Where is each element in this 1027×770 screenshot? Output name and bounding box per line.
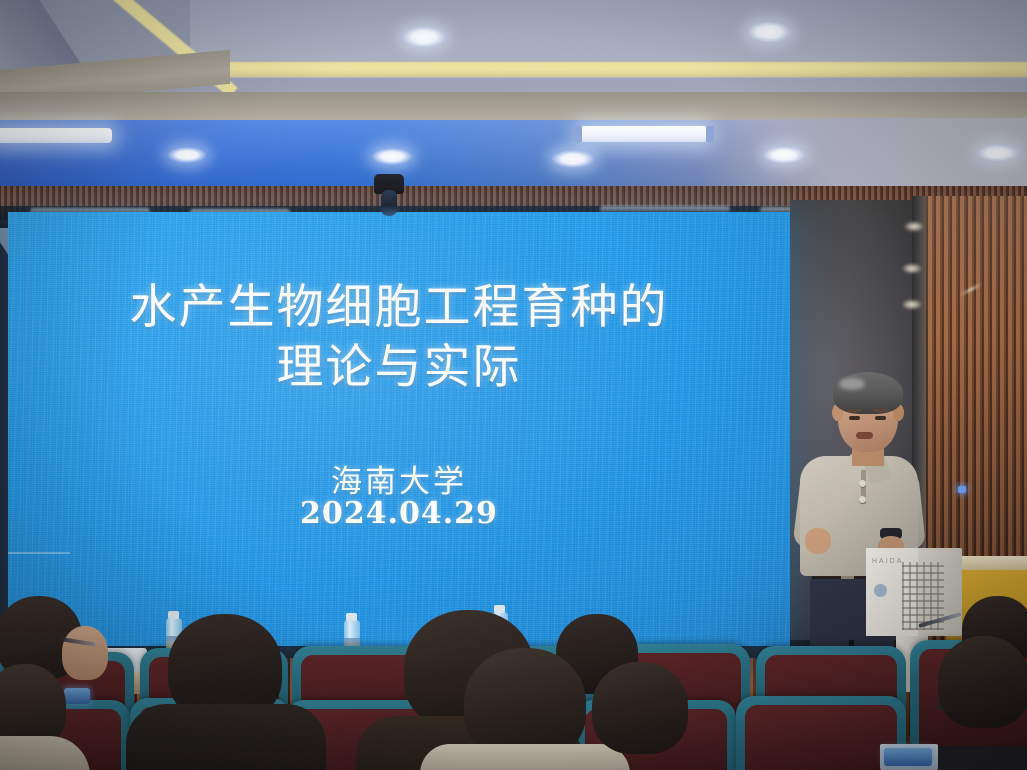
speaker-mouth (856, 432, 873, 439)
slide-organization: 海南大学 (8, 456, 790, 501)
speaker-eye-right (875, 416, 886, 420)
wall-downlight-glow (905, 222, 923, 231)
bottle-cap-icon (494, 605, 505, 613)
bottle-cap-icon (168, 611, 179, 619)
downlight-icon (552, 150, 594, 168)
audience-shoulders (420, 744, 630, 770)
downlight-icon (977, 144, 1019, 162)
wall-downlight-glow (903, 264, 921, 273)
podium-label: HAIDA (872, 558, 916, 566)
slide-date: 2024.04.29 (8, 496, 790, 531)
podium-logo-icon (874, 584, 887, 597)
shirt-button-icon (859, 480, 866, 487)
speaker-eyebrow-right (873, 409, 887, 412)
slide-title-line2: 理论与实际 (8, 338, 790, 398)
tube-light-icon (0, 128, 112, 143)
speaker-hair (833, 372, 903, 414)
audience-face (62, 626, 108, 680)
seat-cushion (745, 705, 897, 770)
wall-downlight-glow (903, 300, 921, 309)
slide-title: 水产生物细胞工程育种的 理论与实际 (8, 278, 790, 398)
downlight-icon (747, 21, 791, 43)
lecture-hall-photo: 水产生物细胞工程育种的 理论与实际 海南大学 2024.04.29 HAIDA (0, 0, 1027, 770)
audience-head (592, 662, 688, 754)
presentation-screen[interactable]: 水产生物细胞工程育种的 理论与实际 海南大学 2024.04.29 (8, 212, 790, 646)
cove-light-strip-horizontal (210, 62, 1027, 77)
phone-screen[interactable] (884, 748, 932, 766)
speaker-left-hand (805, 528, 831, 554)
screen-edge-artifact (8, 552, 70, 554)
tube-light-endcap (706, 126, 714, 142)
shirt-button-icon (859, 496, 866, 503)
camera-lens-icon (381, 190, 397, 216)
bottle-cap-icon (346, 613, 357, 621)
slide-title-line1: 水产生物细胞工程育种的 (130, 280, 669, 335)
downlight-icon (168, 147, 206, 163)
downlight-icon (372, 148, 412, 165)
audience-shoulders (126, 704, 326, 770)
tube-light-endcap (574, 126, 582, 142)
wall-status-led-icon (958, 486, 966, 493)
speaker-eyebrow-left (847, 409, 861, 412)
speaker-eye-left (849, 416, 860, 420)
tube-light-icon (580, 126, 708, 142)
audience-head (938, 636, 1027, 728)
downlight-icon (402, 26, 446, 48)
phone-screen[interactable] (64, 688, 90, 704)
downlight-icon (763, 146, 805, 164)
